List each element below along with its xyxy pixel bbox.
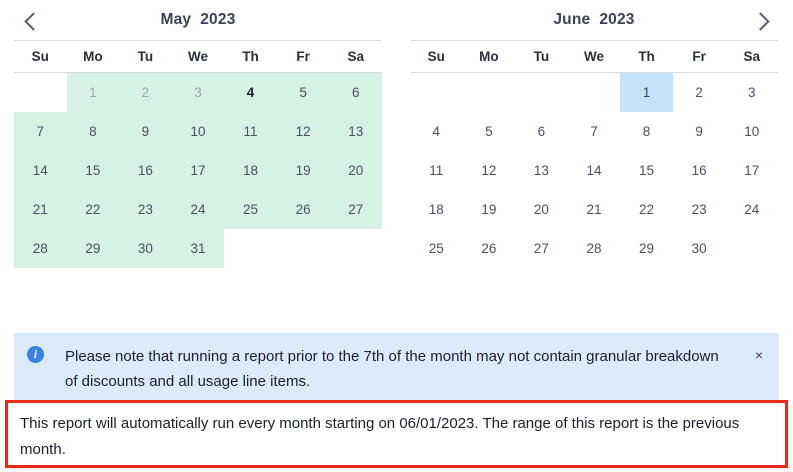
day-cell[interactable]: 14 [14, 151, 67, 190]
day-cell[interactable]: 28 [14, 229, 67, 268]
day-cell[interactable]: 17 [172, 151, 225, 190]
day-cell[interactable]: 27 [515, 229, 568, 268]
chevron-right-icon [751, 12, 769, 30]
weekday-label-th: Th [224, 41, 277, 72]
weekday-label-fr: Fr [277, 41, 330, 72]
day-cell[interactable]: 12 [463, 151, 516, 190]
day-cell-empty [515, 73, 568, 112]
weekday-label-su: Su [410, 41, 463, 72]
weekday-label-fr: Fr [673, 41, 726, 72]
day-cell[interactable]: 23 [119, 190, 172, 229]
weekday-label-sa: Sa [725, 41, 778, 72]
day-cell[interactable]: 10 [172, 112, 225, 151]
day-cell[interactable]: 19 [463, 190, 516, 229]
day-cell[interactable]: 21 [568, 190, 621, 229]
weekday-header-left: SuMoTuWeThFrSa [14, 40, 382, 73]
day-cell[interactable]: 18 [410, 190, 463, 229]
day-cell[interactable]: 2 [119, 73, 172, 112]
close-icon[interactable]: × [751, 347, 767, 363]
day-cell[interactable]: 9 [119, 112, 172, 151]
next-month-button[interactable] [745, 6, 779, 36]
day-cell[interactable]: 25 [410, 229, 463, 268]
day-cell[interactable]: 22 [67, 190, 120, 229]
day-cell[interactable]: 6 [515, 112, 568, 151]
day-cell[interactable]: 19 [277, 151, 330, 190]
day-cell[interactable]: 23 [673, 190, 726, 229]
weekday-label-we: We [172, 41, 225, 72]
month-title-right: June 2023 [410, 0, 778, 40]
day-cell[interactable]: 20 [515, 190, 568, 229]
day-cell[interactable]: 24 [172, 190, 225, 229]
day-cell[interactable]: 11 [410, 151, 463, 190]
weekday-label-tu: Tu [515, 41, 568, 72]
day-cell[interactable]: 18 [224, 151, 277, 190]
day-cell[interactable]: 5 [463, 112, 516, 151]
day-cell[interactable]: 1 [620, 73, 673, 112]
day-cell[interactable]: 31 [172, 229, 225, 268]
info-icon: i [27, 346, 44, 363]
day-cell[interactable]: 8 [67, 112, 120, 151]
weekday-label-tu: Tu [119, 41, 172, 72]
calendar-month-right: June 2023 SuMoTuWeThFrSa 123456789101112… [396, 0, 792, 268]
day-cell[interactable]: 15 [620, 151, 673, 190]
day-cell[interactable]: 3 [725, 73, 778, 112]
day-cell[interactable]: 4 [410, 112, 463, 151]
day-cell[interactable]: 24 [725, 190, 778, 229]
previous-month-button[interactable] [14, 6, 48, 36]
day-cell[interactable]: 28 [568, 229, 621, 268]
day-cell[interactable]: 21 [14, 190, 67, 229]
day-cell[interactable]: 27 [329, 190, 382, 229]
weekday-label-th: Th [620, 41, 673, 72]
day-cell[interactable]: 30 [119, 229, 172, 268]
info-banner: i Please note that running a report prio… [14, 333, 779, 407]
day-cell[interactable]: 22 [620, 190, 673, 229]
date-range-picker: May 2023 SuMoTuWeThFrSa 1234567891011121… [0, 0, 793, 320]
day-cell-empty [463, 73, 516, 112]
weekday-label-sa: Sa [329, 41, 382, 72]
day-cell[interactable]: 25 [224, 190, 277, 229]
day-cell-empty [410, 73, 463, 112]
weekday-label-we: We [568, 41, 621, 72]
calendar-months: May 2023 SuMoTuWeThFrSa 1234567891011121… [0, 0, 793, 268]
day-cell[interactable]: 14 [568, 151, 621, 190]
day-cell[interactable]: 29 [67, 229, 120, 268]
weekday-header-right: SuMoTuWeThFrSa [410, 40, 778, 73]
chevron-left-icon [24, 12, 42, 30]
day-cell[interactable]: 16 [673, 151, 726, 190]
day-cell[interactable]: 15 [67, 151, 120, 190]
day-cell-empty [14, 73, 67, 112]
day-cell[interactable]: 13 [515, 151, 568, 190]
schedule-callout: This report will automatically run every… [5, 400, 788, 468]
weekday-label-mo: Mo [463, 41, 516, 72]
day-grid-left: 1234567891011121314151617181920212223242… [14, 73, 382, 268]
day-cell[interactable]: 7 [568, 112, 621, 151]
weekday-label-su: Su [14, 41, 67, 72]
weekday-label-mo: Mo [67, 41, 120, 72]
day-cell[interactable]: 11 [224, 112, 277, 151]
day-cell[interactable]: 30 [673, 229, 726, 268]
day-cell[interactable]: 2 [673, 73, 726, 112]
day-cell[interactable]: 1 [67, 73, 120, 112]
day-cell[interactable]: 13 [329, 112, 382, 151]
day-cell[interactable]: 6 [329, 73, 382, 112]
day-cell[interactable]: 12 [277, 112, 330, 151]
day-cell[interactable]: 8 [620, 112, 673, 151]
day-cell[interactable]: 10 [725, 112, 778, 151]
month-title-left: May 2023 [14, 0, 382, 40]
calendar-month-left: May 2023 SuMoTuWeThFrSa 1234567891011121… [0, 0, 396, 268]
schedule-callout-text: This report will automatically run every… [20, 411, 773, 463]
day-grid-right: 1234567891011121314151617181920212223242… [410, 73, 778, 268]
day-cell[interactable]: 17 [725, 151, 778, 190]
day-cell[interactable]: 3 [172, 73, 225, 112]
day-cell[interactable]: 26 [277, 190, 330, 229]
day-cell-empty [568, 73, 621, 112]
day-cell[interactable]: 29 [620, 229, 673, 268]
day-cell[interactable]: 5 [277, 73, 330, 112]
day-cell[interactable]: 20 [329, 151, 382, 190]
day-cell[interactable]: 9 [673, 112, 726, 151]
day-cell[interactable]: 26 [463, 229, 516, 268]
day-cell[interactable]: 4 [224, 73, 277, 112]
day-cell[interactable]: 7 [14, 112, 67, 151]
info-banner-text: Please note that running a report prior … [65, 344, 735, 394]
day-cell[interactable]: 16 [119, 151, 172, 190]
